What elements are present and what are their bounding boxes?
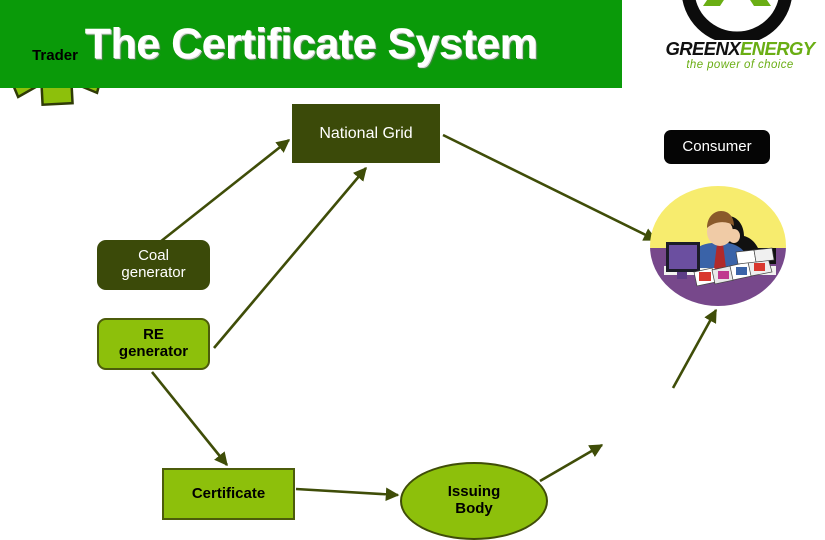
edge-issuing-body-to-trader — [540, 445, 602, 481]
node-certificate[interactable]: Certificate — [162, 468, 295, 520]
node-coal-generator-label-line2: generator — [121, 265, 185, 282]
node-trader-label: Trader — [0, 0, 110, 110]
edge-grid-to-consumer — [443, 135, 656, 240]
slide-canvas: The Certificate System GREENXENERGY the … — [0, 0, 825, 510]
node-consumer-label: Consumer — [682, 139, 751, 156]
node-national-grid[interactable]: National Grid — [292, 104, 440, 163]
node-re-generator[interactable]: RE generator — [97, 318, 210, 370]
edge-re-to-certificate — [152, 372, 227, 465]
edge-re-to-grid — [214, 168, 366, 348]
node-trader[interactable]: Trader — [0, 0, 110, 110]
node-re-generator-label-line2: generator — [119, 344, 188, 361]
node-coal-generator-label-line1: Coal — [121, 248, 185, 265]
node-issuing-body-label-line2: Body — [448, 501, 501, 518]
node-consumer[interactable]: Consumer — [664, 130, 770, 164]
edge-certificate-to-issuing-body — [296, 489, 398, 495]
node-certificate-label: Certificate — [192, 486, 265, 503]
node-re-generator-label-line1: RE — [119, 327, 188, 344]
node-issuing-body[interactable]: Issuing Body — [400, 462, 548, 540]
edge-trader-to-consumer — [673, 310, 716, 388]
node-coal-generator[interactable]: Coal generator — [97, 240, 210, 290]
edge-coal-to-grid — [160, 140, 289, 242]
consumer-illustration — [650, 186, 786, 306]
node-issuing-body-label-line1: Issuing — [448, 484, 501, 501]
node-national-grid-label: National Grid — [319, 125, 412, 143]
